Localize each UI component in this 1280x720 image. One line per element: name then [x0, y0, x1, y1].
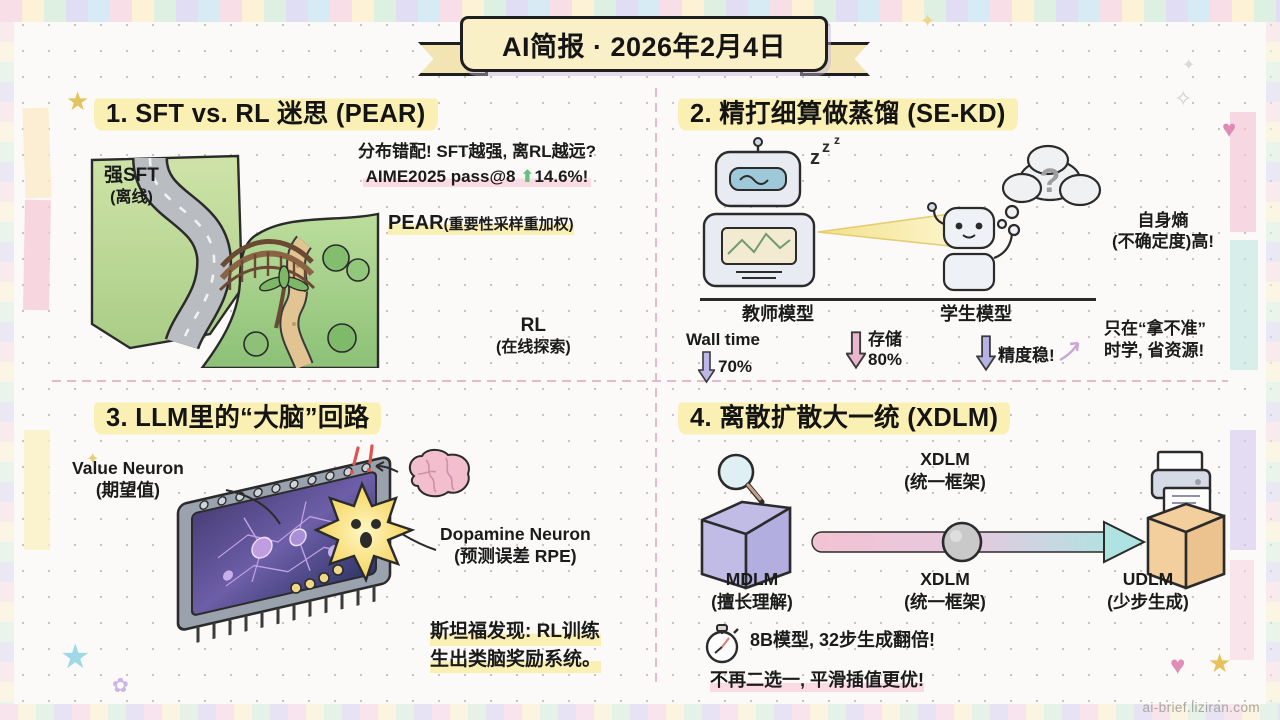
title-ribbon: AI简报 · 2026年2月4日 — [418, 12, 870, 78]
label-rl: RL (在线探索) — [496, 314, 571, 358]
metric-storage-label: 存储 — [868, 330, 902, 350]
section-1-title: 1. SFT vs. RL 迷思 (PEAR) — [94, 92, 438, 133]
washi-tape-accent — [24, 430, 50, 550]
q2-entropy-line1: 自身熵 — [1112, 210, 1214, 231]
label-rl-main: RL — [496, 314, 571, 338]
q4-center-top-label: XDLM (统一框架) — [870, 448, 1020, 494]
metric-accuracy: 精度稳! — [976, 334, 1083, 372]
up-arrow-icon: ⬆ — [520, 167, 534, 186]
baseline-divider — [700, 298, 1096, 301]
star-sticker: ✦ — [920, 12, 935, 30]
q4-node-mdlm-name: MDLM — [682, 568, 822, 591]
q1-note: 分布错配! SFT越强, 离RL越远? AIME2025 pass@8 ⬆14.… — [303, 142, 651, 187]
section-sft-vs-rl: 1. SFT vs. RL 迷思 (PEAR) — [58, 92, 652, 378]
section-xdlm: 4. 离散扩散大一统 (XDLM) — [672, 396, 1266, 694]
q4-note-line2: 不再二选一, 平滑插值更优! — [710, 670, 924, 692]
vertical-divider — [655, 88, 657, 686]
q1-note-line1: 分布错配! SFT越强, 离RL越远? — [303, 142, 651, 163]
q1-method-callout: PEAR(重要性采样重加权) — [388, 212, 574, 235]
stopwatch-icon — [702, 622, 742, 664]
q1-metric-label: AIME2025 pass@8 — [366, 167, 521, 186]
q1-metric-value: 14.6%! — [534, 167, 588, 186]
q3-conclusion: 斯坦福发现: RL训练 生出类脑奖励系统。 — [430, 618, 601, 673]
q2-takeaway-line2: 时学, 省资源! — [1104, 340, 1206, 362]
section-3-title: 3. LLM里的“大脑”回路 — [94, 396, 381, 437]
metric-accuracy-label: 精度稳! — [998, 346, 1055, 366]
label-dopamine-neuron: Dopamine Neuron (预测误差 RPE) — [440, 524, 591, 568]
watermark: ai-brief.liziran.com — [1142, 700, 1260, 715]
svg-text:z: z — [822, 139, 830, 156]
q2-entropy-note: 自身熵 (不确定度)高! — [1112, 210, 1214, 253]
q4-node-udlm-desc: (少步生成) — [1078, 591, 1218, 614]
label-strong-sft-main: 强SFT — [104, 164, 159, 188]
q3-conclusion-line1: 斯坦福发现: RL训练 — [430, 618, 601, 646]
svg-text:z: z — [834, 136, 840, 147]
q4-node-xdlm: XDLM (统一框架) — [870, 568, 1020, 614]
metric-wall-time-label: Wall time — [686, 330, 760, 350]
q1-note-line2: AIME2025 pass@8 ⬆14.6%! — [363, 167, 592, 188]
ribbon-band: AI简报 · 2026年2月4日 — [460, 16, 828, 72]
section-se-kd: 2. 精打细算做蒸馏 (SE-KD) z z z — [672, 92, 1266, 378]
label-dopamine-neuron-cn: (预测误差 RPE) — [440, 546, 591, 568]
q2-takeaway-line1: 只在“拿不准” — [1104, 318, 1206, 340]
q1-method-desc: (重要性采样重加权) — [444, 216, 574, 233]
down-arrow-icon — [846, 330, 866, 370]
q4-node-mdlm-desc: (擅长理解) — [682, 591, 822, 614]
label-teacher-model: 教师模型 — [742, 304, 814, 326]
washi-tape-bottom — [0, 704, 1280, 720]
up-right-arrow-icon — [1057, 338, 1083, 364]
washi-tape-right — [1266, 22, 1280, 704]
section-4-title: 4. 离散扩散大一统 (XDLM) — [678, 396, 1010, 437]
metric-storage: 存储 80% — [846, 330, 902, 370]
q4-node-mdlm: MDLM (擅长理解) — [682, 568, 822, 614]
washi-tape-left — [0, 22, 14, 704]
brain-icon — [402, 446, 476, 502]
q3-conclusion-line2: 生出类脑奖励系统。 — [430, 646, 601, 674]
q1-method-name: PEAR — [388, 212, 444, 234]
label-value-neuron: Value Neuron (期望值) — [72, 458, 184, 502]
label-value-neuron-en: Value Neuron — [72, 458, 184, 480]
section-llm-brain-circuit: 3. LLM里的“大脑”回路 — [58, 396, 652, 694]
page-title: AI简报 · 2026年2月4日 — [502, 25, 786, 64]
q4-node-udlm-name: UDLM — [1078, 568, 1218, 591]
infographic-page: ★ ✦ ★ ✿ ♥ ♥ ★ ✧ ✦ ✦ AI简报 · 2026年2月4日 1. … — [0, 0, 1280, 720]
q4-node-xdlm-desc: (统一框架) — [870, 591, 1020, 614]
q4-center-top-line1: XDLM — [870, 448, 1020, 471]
metric-wall-time: Wall time 70% — [686, 330, 760, 384]
metric-storage-value: 80% — [868, 350, 902, 370]
label-student-model: 学生模型 — [940, 304, 1012, 326]
label-rl-sub: (在线探索) — [496, 338, 571, 358]
label-strong-sft: 强SFT (离线) — [104, 164, 159, 208]
q4-center-top-line2: (统一框架) — [870, 471, 1020, 494]
svg-text:z: z — [810, 147, 820, 169]
metrics-row: Wall time 70% 存储 80% — [686, 330, 1106, 382]
down-arrow-icon — [976, 334, 996, 372]
washi-tape-accent — [22, 108, 51, 199]
label-strong-sft-sub: (离线) — [104, 188, 159, 208]
star-sticker: ✦ — [1182, 58, 1195, 74]
q2-entropy-line2: (不确定度)高! — [1112, 231, 1214, 252]
section-2-title: 2. 精打细算做蒸馏 (SE-KD) — [678, 92, 1018, 133]
label-value-neuron-cn: (期望值) — [72, 480, 184, 502]
svg-text:?: ? — [1040, 162, 1061, 200]
q2-takeaway-note: 只在“拿不准” 时学, 省资源! — [1104, 318, 1206, 362]
washi-tape-accent — [23, 200, 51, 310]
down-arrow-icon — [698, 350, 715, 384]
teacher-student-illustration: z z z — [682, 136, 1112, 316]
q4-note-line1: 8B模型, 32步生成翻倍! — [750, 630, 935, 652]
label-dopamine-neuron-en: Dopamine Neuron — [440, 524, 591, 546]
q4-node-udlm: UDLM (少步生成) — [1078, 568, 1218, 614]
metric-wall-time-value: 70% — [718, 357, 752, 377]
q4-node-xdlm-name: XDLM — [870, 568, 1020, 591]
